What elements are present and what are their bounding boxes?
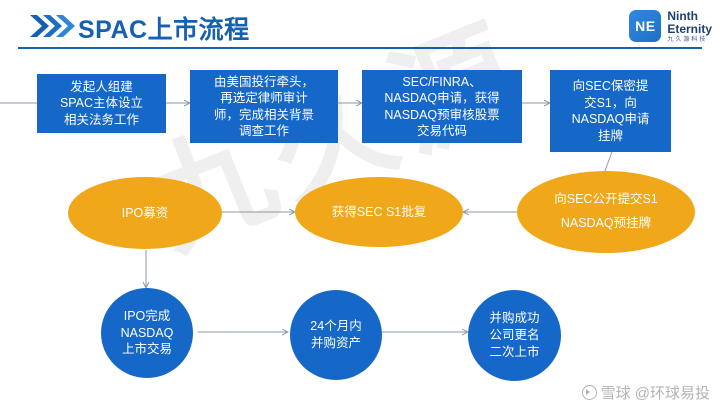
brand-logo: NE Ninth Eternity 九久源科技 xyxy=(629,7,712,45)
flow-node-circle-24-months[interactable]: 24个月内 并购资产 xyxy=(290,290,382,380)
header-divider xyxy=(18,47,702,49)
brand-name-cn: 九久源科技 xyxy=(667,37,712,43)
slide-canvas: SPAC上市流程 NE Ninth Eternity 九久源科技 九久源 xyxy=(0,0,720,407)
flow-node-ellipse-s1-approval[interactable]: 获得SEC S1批复 xyxy=(295,177,463,247)
flow-node-label: IPO募资 xyxy=(68,205,222,221)
brand-name-line1: Ninth xyxy=(667,10,712,22)
flow-node-rect-4[interactable]: 向SEC保密提 交S1，向 NASDAQ申请 挂牌 xyxy=(550,70,671,152)
flow-node-circle-merger-success[interactable]: 并购成功 公司更名 二次上市 xyxy=(468,290,561,381)
flow-node-label: IPO完成 NASDAQ 上市交易 xyxy=(101,308,193,359)
watermark-bottom-right: 雪球 @环球易投 xyxy=(582,382,710,403)
page-title: SPAC上市流程 xyxy=(78,10,250,46)
flow-node-circle-ipo-complete[interactable]: IPO完成 NASDAQ 上市交易 xyxy=(101,288,193,378)
play-badge-icon xyxy=(582,385,597,400)
flow-node-label: 获得SEC S1批复 xyxy=(295,204,463,220)
brand-name-line2: Eternity xyxy=(667,23,712,35)
flow-node-rect-2[interactable]: 由美国投行牵头， 再选定律师审计 师，完成相关背景 调查工作 xyxy=(190,70,338,143)
flow-node-rect-1[interactable]: 发起人组建 SPAC主体设立 相关法务工作 xyxy=(37,74,166,133)
flow-node-ellipse-sec-public[interactable]: 向SEC公开提交S1 NASDAQ预挂牌 xyxy=(517,171,695,253)
flow-node-ellipse-ipo-funding[interactable]: IPO募资 xyxy=(68,177,222,249)
brand-text: Ninth Eternity 九久源科技 xyxy=(667,10,712,43)
flow-node-label: 发起人组建 SPAC主体设立 相关法务工作 xyxy=(43,79,160,129)
double-chevron-right-icon xyxy=(28,13,76,39)
slide-header: SPAC上市流程 NE Ninth Eternity 九久源科技 xyxy=(0,0,720,50)
watermark-bottom-text: 雪球 @环球易投 xyxy=(601,382,710,403)
flow-node-rect-3[interactable]: SEC/FINRA、 NASDAQ申请，获得 NASDAQ预审核股票 交易代码 xyxy=(362,70,522,143)
flow-node-label: 由美国投行牵头， 再选定律师审计 师，完成相关背景 调查工作 xyxy=(196,74,332,140)
brand-mark-ne: NE xyxy=(629,10,661,42)
flow-node-label: SEC/FINRA、 NASDAQ申请，获得 NASDAQ预审核股票 交易代码 xyxy=(368,74,516,140)
flow-node-label: 24个月内 并购资产 xyxy=(290,318,382,352)
flow-node-label: 向SEC保密提 交S1，向 NASDAQ申请 挂牌 xyxy=(556,78,665,144)
flow-node-label: 向SEC公开提交S1 NASDAQ预挂牌 xyxy=(517,188,695,236)
flow-node-label: 并购成功 公司更名 二次上市 xyxy=(468,310,561,361)
